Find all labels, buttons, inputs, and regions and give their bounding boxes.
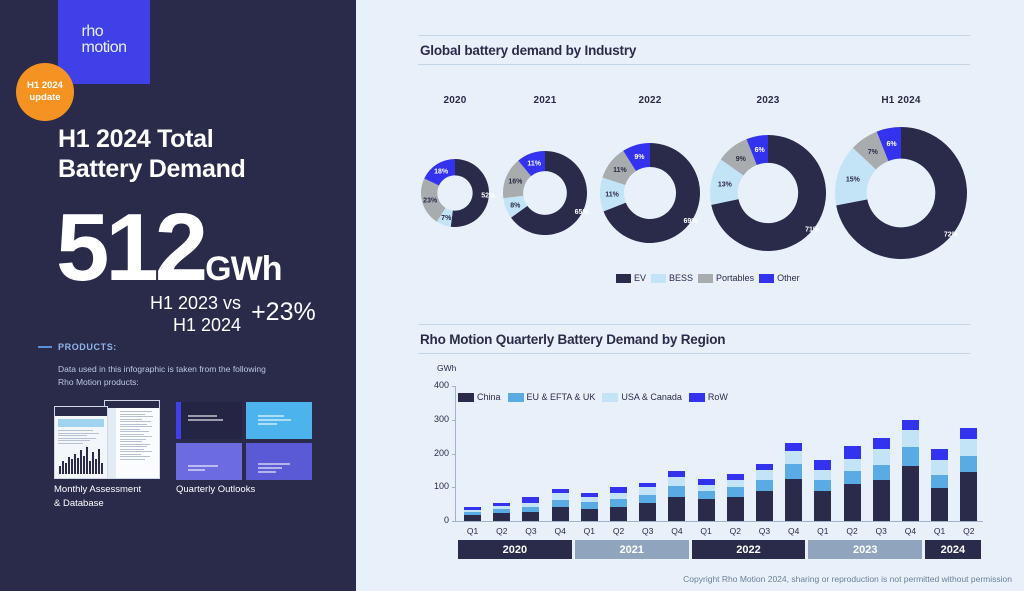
bar-column[interactable] — [692, 386, 721, 521]
bar-column[interactable] — [633, 386, 662, 521]
bar-segment-china — [493, 513, 510, 521]
x-tick-label-16: Q1 — [925, 526, 954, 536]
x-tick-label-0: Q1 — [458, 526, 487, 536]
x-axis-line — [455, 521, 983, 522]
bar-segment-row — [785, 443, 802, 451]
bar-column[interactable] — [867, 386, 896, 521]
x-tick-label-13: Q2 — [837, 526, 866, 536]
bar-segment-row — [960, 428, 977, 439]
quarter-labels-row: Q1Q2Q3Q4Q1Q2Q3Q4Q1Q2Q3Q4Q1Q2Q3Q4Q1Q2 — [458, 523, 983, 536]
bar-column[interactable] — [604, 386, 633, 521]
x-tick-label-12: Q1 — [808, 526, 837, 536]
y-axis-line — [455, 386, 456, 521]
stacked-bar — [464, 507, 481, 521]
headline-line-1: H1 2024 Total — [58, 125, 348, 155]
bar-column[interactable] — [837, 386, 866, 521]
x-tick-label-8: Q1 — [692, 526, 721, 536]
bar-segment-eu-efta-uk — [873, 465, 890, 480]
x-tick-label-1: Q2 — [487, 526, 516, 536]
total-demand-value: 512 — [56, 205, 204, 291]
bar-segment-eu-efta-uk — [756, 480, 773, 491]
y-tick-label-300: 300 — [423, 414, 449, 424]
stacked-bar — [668, 471, 685, 521]
bar-segment-eu-efta-uk — [902, 447, 919, 466]
bar-segment-usa-canada — [785, 451, 802, 464]
product-caption-quarterly: Quarterly Outlooks — [176, 483, 296, 497]
bar-segment-china — [610, 507, 627, 521]
logo-line-2: motion — [81, 40, 126, 56]
year-band-2023: 2023 — [808, 540, 922, 559]
donut-year-label-2023: 2023 — [723, 95, 813, 106]
stacked-bar — [960, 428, 977, 521]
total-demand-figure: 512 GWh — [56, 205, 281, 291]
rule-under-bar-title — [418, 353, 970, 354]
bar-column[interactable] — [546, 386, 575, 521]
outlook-slide-4 — [246, 443, 312, 480]
caption-1-line-1: Monthly Assessment — [54, 483, 174, 497]
bar-segment-china — [698, 499, 715, 521]
bar-segment-china — [464, 515, 481, 521]
bar-segment-row — [756, 464, 773, 471]
page-title: H1 2024 Total Battery Demand — [58, 125, 348, 184]
stacked-bar — [785, 443, 802, 521]
year-band-2020: 2020 — [458, 540, 572, 559]
x-tick-label-4: Q1 — [575, 526, 604, 536]
bar-column[interactable] — [721, 386, 750, 521]
bar-segment-china — [931, 488, 948, 521]
bar-section-title: Rho Motion Quarterly Battery Demand by R… — [420, 332, 725, 347]
y-axis-unit-label: GWh — [437, 363, 456, 373]
products-desc-line-1: Data used in this infographic is taken f… — [58, 363, 328, 376]
bar-segment-usa-canada — [552, 493, 569, 500]
legend-label: BESS — [669, 273, 693, 283]
bar-segment-usa-canada — [668, 477, 685, 486]
bar-segment-row — [873, 438, 890, 450]
bar-segment-usa-canada — [902, 430, 919, 448]
bar-column[interactable] — [954, 386, 983, 521]
outlook-slide-2 — [246, 402, 312, 439]
bar-segment-usa-canada — [814, 470, 831, 480]
stacked-bar — [698, 479, 715, 521]
bar-column[interactable] — [896, 386, 925, 521]
bar-segment-usa-canada — [639, 487, 656, 494]
x-tick-label-9: Q2 — [721, 526, 750, 536]
database-doc-preview — [104, 400, 160, 479]
compare-line-1: H1 2023 vs — [150, 293, 241, 315]
legend-label: Portables — [716, 273, 754, 283]
y-tick-label-400: 400 — [423, 380, 449, 390]
caption-2-line-1: Quarterly Outlooks — [176, 483, 296, 497]
bar-segment-usa-canada — [931, 460, 948, 475]
products-heading: PRODUCTS: — [38, 342, 117, 352]
x-tick-label-14: Q3 — [867, 526, 896, 536]
stacked-bar — [610, 487, 627, 521]
bar-segment-usa-canada — [727, 480, 744, 487]
rho-motion-logo: rho motion — [58, 0, 150, 84]
bar-segment-eu-efta-uk — [931, 475, 948, 488]
h1-2024-update-badge: H1 2024 update — [16, 63, 74, 121]
bar-segment-china — [844, 484, 861, 521]
bar-segment-eu-efta-uk — [668, 486, 685, 497]
donut-year-text: 2020 — [410, 95, 500, 106]
stacked-bar — [844, 446, 861, 521]
left-hero-panel: rho motion H1 2024 update H1 2024 Total … — [0, 0, 356, 591]
bar-segment-row — [844, 446, 861, 459]
x-tick-label-10: Q3 — [750, 526, 779, 536]
monthly-report-preview — [54, 406, 108, 479]
bar-segment-china — [960, 472, 977, 521]
legend-item-portables: Portables — [698, 273, 754, 283]
stacked-bar — [493, 503, 510, 521]
donut-year-label-2021: 2021 — [500, 95, 590, 106]
year-band-2021: 2021 — [575, 540, 689, 559]
bar-segment-china — [785, 479, 802, 521]
products-desc-line-2: Rho Motion products: — [58, 376, 328, 389]
stacked-bar — [902, 420, 919, 521]
bar-series-group — [458, 386, 983, 521]
bar-segment-usa-canada — [844, 459, 861, 471]
bar-column[interactable] — [458, 386, 487, 521]
badge-line-1: H1 2024 — [27, 80, 63, 92]
donut-year-text: 2021 — [500, 95, 590, 106]
x-tick-label-2: Q3 — [516, 526, 545, 536]
x-tick-label-3: Q4 — [546, 526, 575, 536]
bar-segment-eu-efta-uk — [610, 499, 627, 507]
stacked-bar — [873, 438, 890, 521]
total-demand-unit: GWh — [205, 250, 281, 289]
bar-segment-eu-efta-uk — [960, 456, 977, 472]
stacked-bar — [522, 497, 539, 521]
caption-1-line-2: & Database — [54, 497, 174, 511]
y-tick-label-100: 100 — [423, 481, 449, 491]
x-tick-label-15: Q4 — [896, 526, 925, 536]
bar-segment-china — [552, 507, 569, 521]
bar-segment-china — [902, 466, 919, 521]
rule-mid — [418, 324, 970, 325]
bar-column[interactable] — [516, 386, 545, 521]
products-description: Data used in this infographic is taken f… — [58, 363, 328, 389]
logo-line-1: rho — [81, 24, 126, 40]
copyright-notice: Copyright Rho Motion 2024, sharing or re… — [683, 574, 1012, 584]
stacked-bar — [581, 493, 598, 521]
legend-item-other: Other — [759, 273, 800, 283]
bar-segment-eu-efta-uk — [727, 487, 744, 496]
bar-segment-eu-efta-uk — [698, 491, 715, 499]
x-tick-label-6: Q3 — [633, 526, 662, 536]
stacked-bar — [931, 449, 948, 521]
bar-column[interactable] — [487, 386, 516, 521]
headline-line-2: Battery Demand — [58, 155, 348, 185]
year-band-2022: 2022 — [692, 540, 806, 559]
x-tick-label-11: Q4 — [779, 526, 808, 536]
outlook-slide-3 — [176, 443, 242, 480]
y-tick-label-200: 200 — [423, 448, 449, 458]
infographic-root: rho motion H1 2024 update H1 2024 Total … — [0, 0, 1024, 591]
donut-year-label-h1-2024: H1 2024 — [856, 95, 946, 106]
bar-segment-row — [931, 449, 948, 460]
bar-segment-row — [814, 460, 831, 470]
bar-segment-china — [522, 512, 539, 521]
stacked-bar — [814, 460, 831, 521]
bar-segment-china — [756, 491, 773, 521]
rule-under-donut-title — [418, 64, 970, 65]
bar-segment-china — [814, 491, 831, 521]
bar-segment-eu-efta-uk — [844, 471, 861, 484]
legend-label: Other — [777, 273, 800, 283]
bar-segment-china — [639, 503, 656, 521]
bar-segment-china — [873, 480, 890, 522]
bar-column[interactable] — [575, 386, 604, 521]
legend-swatch-icon — [759, 274, 774, 283]
donut-year-text: 2023 — [723, 95, 813, 106]
year-bands-row: 20202021202220232024 — [458, 540, 981, 559]
bar-segment-china — [581, 509, 598, 521]
yoy-delta-value: +23% — [251, 298, 316, 331]
stacked-bar — [756, 464, 773, 521]
bar-segment-eu-efta-uk — [814, 480, 831, 491]
donut-legend: EVBESSPortablesOther — [616, 273, 800, 283]
y-tick-label-0: 0 — [423, 515, 449, 525]
year-band-2024: 2024 — [925, 540, 980, 559]
donut-year-text: H1 2024 — [856, 95, 946, 106]
legend-item-bess: BESS — [651, 273, 693, 283]
bar-column[interactable] — [925, 386, 954, 521]
bar-segment-usa-canada — [960, 439, 977, 456]
stacked-bar — [552, 489, 569, 521]
yoy-comparison: H1 2023 vs H1 2024 +23% — [150, 293, 316, 337]
bar-segment-usa-canada — [756, 470, 773, 479]
bar-column[interactable] — [808, 386, 837, 521]
bar-column[interactable] — [779, 386, 808, 521]
bar-segment-china — [668, 497, 685, 521]
bar-segment-eu-efta-uk — [581, 502, 598, 509]
legend-item-ev: EV — [616, 273, 646, 283]
dash-icon — [38, 346, 52, 348]
legend-swatch-icon — [698, 274, 713, 283]
bar-segment-eu-efta-uk — [785, 464, 802, 479]
donut-year-label-2020: 2020 — [410, 95, 500, 106]
compare-line-2: H1 2024 — [150, 315, 241, 337]
bar-segment-usa-canada — [873, 449, 890, 464]
x-tick-label-5: Q2 — [604, 526, 633, 536]
rule-top — [418, 35, 970, 36]
bar-column[interactable] — [662, 386, 691, 521]
products-label: PRODUCTS: — [58, 342, 117, 352]
bar-segment-usa-canada — [610, 493, 627, 500]
donut-section-title: Global battery demand by Industry — [420, 43, 636, 58]
donut-year-label-2022: 2022 — [605, 95, 695, 106]
legend-swatch-icon — [651, 274, 666, 283]
x-tick-label-7: Q4 — [662, 526, 691, 536]
bar-column[interactable] — [750, 386, 779, 521]
bar-segment-eu-efta-uk — [552, 500, 569, 507]
outlook-slide-1 — [176, 402, 242, 439]
product-caption-monthly: Monthly Assessment & Database — [54, 483, 174, 511]
stacked-bar — [639, 483, 656, 521]
donut-year-text: 2022 — [605, 95, 695, 106]
legend-label: EV — [634, 273, 646, 283]
bar-segment-eu-efta-uk — [639, 495, 656, 504]
badge-line-2: update — [29, 92, 60, 104]
bar-segment-row — [902, 420, 919, 429]
x-tick-label-17: Q2 — [954, 526, 983, 536]
stacked-bar — [727, 474, 744, 521]
bar-segment-china — [727, 497, 744, 521]
legend-swatch-icon — [616, 274, 631, 283]
